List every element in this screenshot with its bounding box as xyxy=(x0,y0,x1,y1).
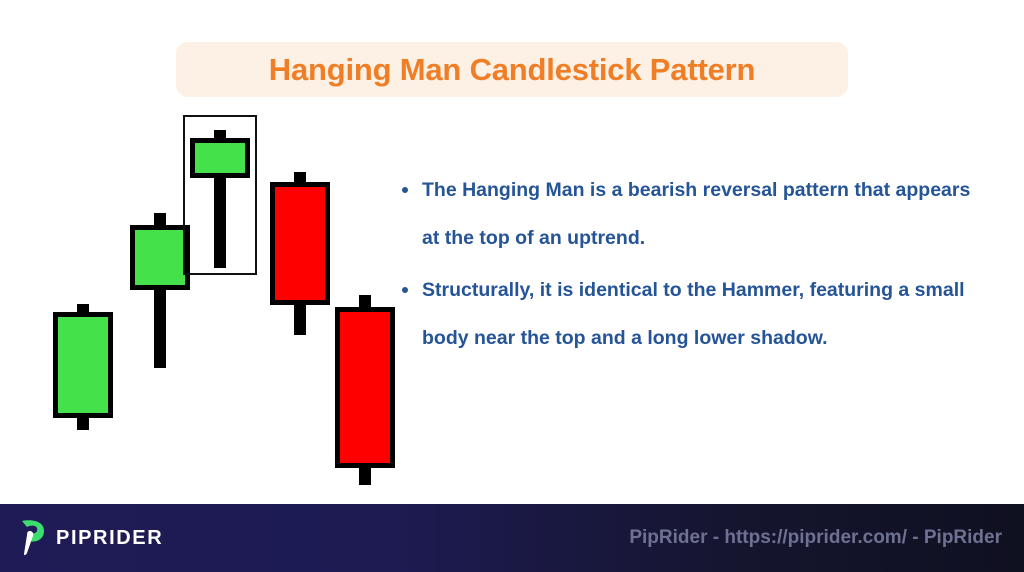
candlestick-body xyxy=(270,182,330,305)
candlestick-body xyxy=(130,225,190,290)
candlestick-body xyxy=(53,312,113,418)
candlestick-body xyxy=(335,307,395,468)
bullet-dot-icon xyxy=(402,187,408,193)
footer-brand-name: PIPRIDER xyxy=(56,527,163,550)
footer-bar: PIPRIDER PipRider - https://piprider.com… xyxy=(0,504,1024,572)
bullet-text: The Hanging Man is a bearish reversal pa… xyxy=(422,179,970,249)
hanging-man-highlight-box xyxy=(183,115,257,275)
footer-credit: PipRider - https://piprider.com/ - PipRi… xyxy=(629,527,1002,549)
bullet-text: Structurally, it is identical to the Ham… xyxy=(422,279,965,349)
description-panel: The Hanging Man is a bearish reversal pa… xyxy=(396,166,992,366)
footer-brand: PIPRIDER xyxy=(18,519,163,557)
bullet-dot-icon xyxy=(402,287,408,293)
page-title: Hanging Man Candlestick Pattern xyxy=(269,52,755,88)
title-banner: Hanging Man Candlestick Pattern xyxy=(176,42,848,97)
list-item: The Hanging Man is a bearish reversal pa… xyxy=(422,166,992,262)
piprider-p-logo-icon xyxy=(18,519,48,557)
bullet-list: The Hanging Man is a bearish reversal pa… xyxy=(396,166,992,362)
list-item: Structurally, it is identical to the Ham… xyxy=(422,266,992,362)
